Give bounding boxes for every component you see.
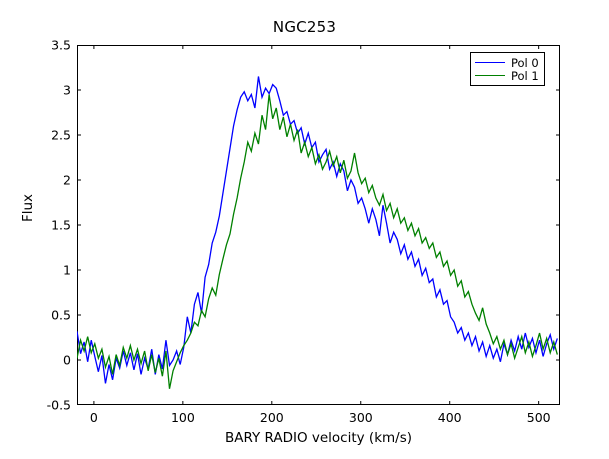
y-tick-label: 3.5 [51, 38, 71, 53]
plot-axes [77, 45, 560, 405]
x-tick-label: 100 [171, 410, 195, 425]
spectrum-lines [77, 45, 560, 405]
x-tick-label: 500 [527, 410, 551, 425]
legend: Pol 0 Pol 1 [470, 52, 545, 86]
y-tick-label: 2 [63, 173, 71, 188]
legend-item-pol-1: Pol 1 [475, 69, 539, 82]
legend-swatch-pol-0 [475, 62, 505, 63]
x-tick-label: 300 [349, 410, 373, 425]
y-tick-label: 0.5 [51, 308, 71, 323]
legend-swatch-pol-1 [475, 75, 505, 76]
y-tick-label: 1.5 [51, 218, 71, 233]
line-series-pol-1 [77, 95, 557, 389]
y-axis-tick-labels: -0.500.511.522.533.5 [33, 45, 71, 405]
y-tick-label: -0.5 [47, 398, 71, 413]
y-tick-label: 1 [63, 263, 71, 278]
y-tick-label: 3 [63, 83, 71, 98]
x-tick-label: 0 [90, 410, 98, 425]
y-tick-label: 0 [63, 353, 71, 368]
page-title: NGC253 [0, 18, 609, 36]
y-tick-label: 2.5 [51, 128, 71, 143]
legend-label-pol-1: Pol 1 [511, 70, 539, 82]
legend-item-pol-0: Pol 0 [475, 56, 539, 69]
line-series-pol-0 [77, 77, 557, 384]
matplotlib-figure: NGC253 -0.500.511.522.533.5 010020030040… [0, 0, 609, 459]
x-axis-label: BARY RADIO velocity (km/s) [77, 430, 560, 446]
x-tick-label: 400 [438, 410, 462, 425]
x-tick-label: 200 [260, 410, 284, 425]
y-axis-label: Flux [20, 168, 36, 248]
legend-label-pol-0: Pol 0 [511, 57, 539, 69]
x-axis-tick-labels: 0100200300400500 [77, 410, 560, 428]
